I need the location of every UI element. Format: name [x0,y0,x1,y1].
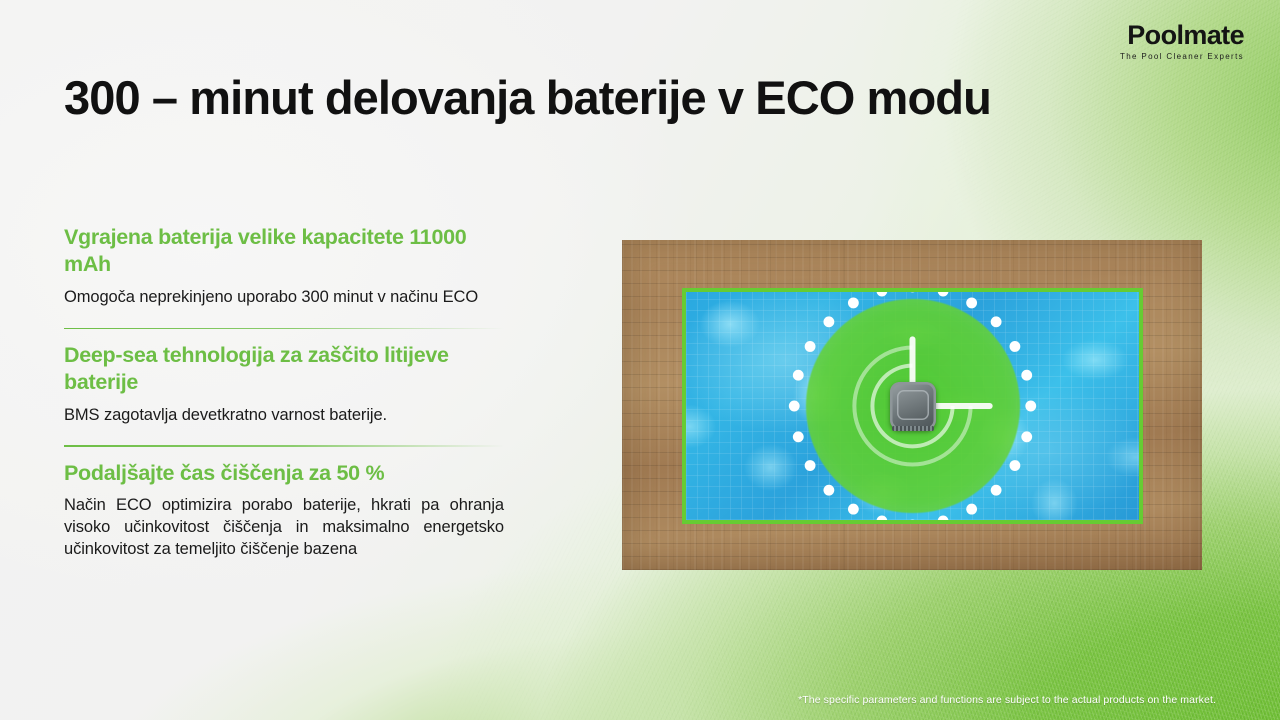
feature-body: Omogoča neprekinjeno uporabo 300 minut v… [64,287,504,309]
pool-basin [682,288,1143,524]
feature-title: Podaljšajte čas čiščenja za 50 % [64,460,504,487]
feature-block-deep-sea-protection: Deep-sea tehnologija za zaščito litijeve… [64,342,504,427]
footer-disclaimer: *The specific parameters and functions a… [798,694,1216,706]
brand-logo: Poolmate The Pool Cleaner Experts [1120,22,1244,61]
feature-list: Vgrajena baterija velike kapacitete 1100… [64,224,504,561]
feature-block-battery-capacity: Vgrajena baterija velike kapacitete 1100… [64,224,504,309]
robotic-pool-cleaner [890,382,936,430]
feature-title: Deep-sea tehnologija za zaščito litijeve… [64,342,504,397]
pool-illustration [622,240,1202,570]
feature-body: BMS zagotavlja devetkratno varnost bater… [64,405,504,427]
feature-block-extended-cleaning: Podaljšajte čas čiščenja za 50 % Način E… [64,460,504,561]
cleaner-top-lid [897,390,929,420]
feature-title: Vgrajena baterija velike kapacitete 1100… [64,224,504,279]
feature-body: Način ECO optimizira porabo baterije, hk… [64,495,504,561]
feature-divider-2 [64,445,504,446]
page-title: 300 – minut delovanja baterije v ECO mod… [64,68,1024,127]
feature-divider-1 [64,328,504,329]
cleaner-brush-track [892,426,934,431]
logo-tagline: The Pool Cleaner Experts [1120,53,1244,61]
logo-wordmark: Poolmate [1120,22,1244,49]
